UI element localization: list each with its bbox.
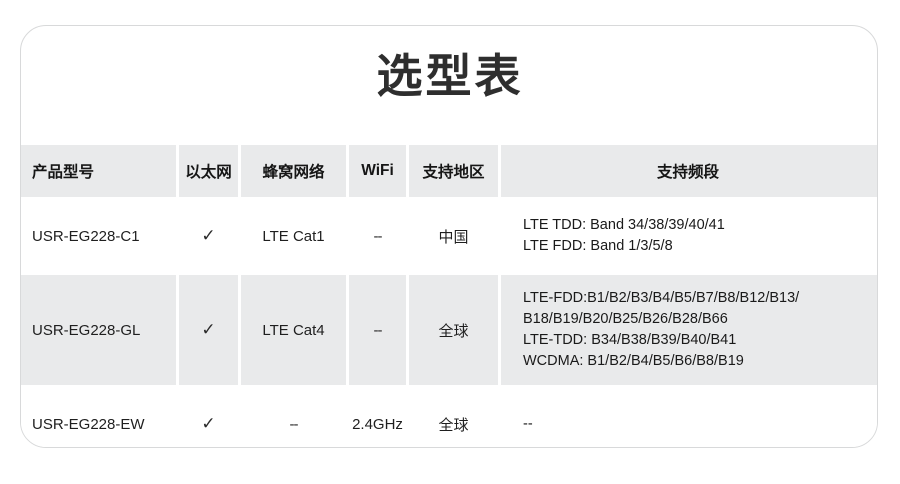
- dash-placeholder: --: [290, 416, 298, 433]
- check-icon: ✓: [201, 416, 215, 433]
- cell-cellular: --: [238, 389, 346, 448]
- cell-cellular: LTE Cat4: [238, 275, 346, 385]
- dash-placeholder: --: [374, 322, 382, 339]
- cell-model: USR-EG228-EW: [21, 389, 176, 448]
- column-header-region: 支持地区: [406, 145, 498, 197]
- table-row: USR-EG228-C1 ✓ LTE Cat1 -- 中国 LTE TDD: B…: [21, 201, 878, 271]
- cell-region: 全球: [406, 275, 498, 385]
- cell-model: USR-EG228-C1: [21, 201, 176, 271]
- cell-wifi: --: [346, 201, 406, 271]
- cell-bands: LTE-FDD:B1/B2/B3/B4/B5/B7/B8/B12/B13/ B1…: [498, 275, 878, 385]
- cell-bands: --: [498, 389, 878, 448]
- column-header-ethernet: 以太网: [176, 145, 238, 197]
- check-icon: ✓: [201, 322, 215, 339]
- table-row: USR-EG228-GL ✓ LTE Cat4 -- 全球 LTE-FDD:B1…: [21, 275, 878, 385]
- page-title: 选型表: [21, 48, 878, 104]
- band-list: LTE TDD: Band 34/38/39/40/41 LTE FDD: Ba…: [523, 215, 725, 257]
- check-icon: ✓: [201, 228, 215, 245]
- cell-model: USR-EG228-GL: [21, 275, 176, 385]
- page-root: 选型表 产品型号 以太网 蜂窝网络 WiFi 支持地区 支持频段 USR-EG2…: [0, 0, 900, 484]
- column-header-bands: 支持频段: [498, 145, 878, 197]
- cell-ethernet: ✓: [176, 389, 238, 448]
- dash-placeholder: --: [374, 228, 382, 245]
- cell-cellular: LTE Cat1: [238, 201, 346, 271]
- cell-region: 中国: [406, 201, 498, 271]
- column-header-cellular: 蜂窝网络: [238, 145, 346, 197]
- band-list: LTE-FDD:B1/B2/B3/B4/B5/B7/B8/B12/B13/ B1…: [523, 288, 799, 372]
- selection-table-card: 选型表 产品型号 以太网 蜂窝网络 WiFi 支持地区 支持频段 USR-EG2…: [20, 25, 878, 448]
- column-header-wifi: WiFi: [346, 145, 406, 197]
- column-header-model: 产品型号: [21, 145, 176, 197]
- cell-ethernet: ✓: [176, 275, 238, 385]
- cell-ethernet: ✓: [176, 201, 238, 271]
- table-header-row: 产品型号 以太网 蜂窝网络 WiFi 支持地区 支持频段: [21, 145, 878, 197]
- cell-wifi: 2.4GHz: [346, 389, 406, 448]
- cell-region: 全球: [406, 389, 498, 448]
- selection-table: 产品型号 以太网 蜂窝网络 WiFi 支持地区 支持频段 USR-EG228-C…: [21, 145, 878, 448]
- table-row: USR-EG228-EW ✓ -- 2.4GHz 全球 --: [21, 389, 878, 448]
- band-list: --: [523, 414, 533, 435]
- cell-bands: LTE TDD: Band 34/38/39/40/41 LTE FDD: Ba…: [498, 201, 878, 271]
- cell-wifi: --: [346, 275, 406, 385]
